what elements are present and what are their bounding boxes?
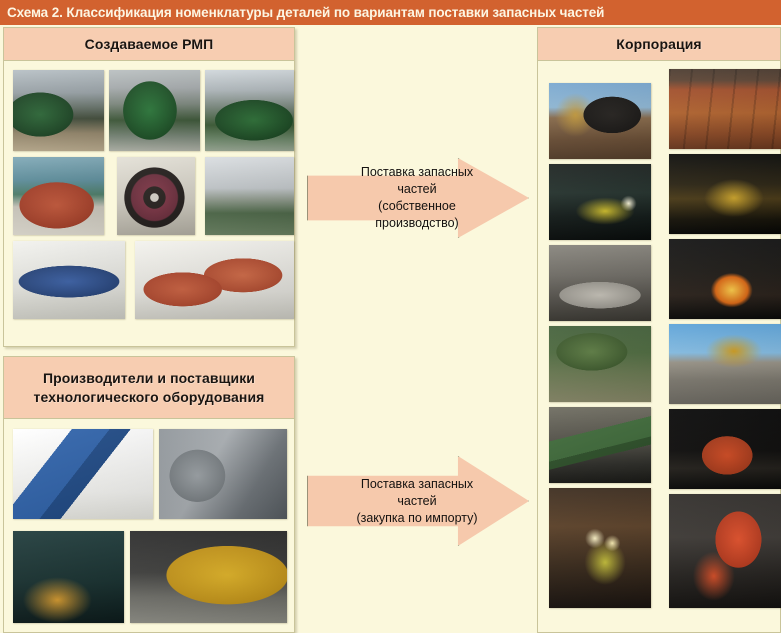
photo-blue-multistage-pump bbox=[13, 241, 125, 319]
arrow-own-production-line1: Поставка запасных частей bbox=[361, 165, 473, 196]
panel-created-rmp: Создаваемое РМП bbox=[3, 27, 295, 347]
panel-created-rmp-title: Создаваемое РМП bbox=[85, 35, 214, 54]
photo-red-conveyor-rollers bbox=[135, 241, 294, 319]
photo-grey-centrifugal-pump bbox=[159, 429, 287, 519]
photo-spare-parts-display bbox=[13, 531, 124, 623]
panel-created-rmp-header: Создаваемое РМП bbox=[4, 28, 294, 61]
panel-corporation: Корпорация bbox=[537, 27, 781, 633]
photo-underground-ore-extraction bbox=[669, 154, 781, 234]
page-title: Схема 2. Классификация номенклатуры дета… bbox=[7, 5, 604, 20]
panel-equipment-makers: Производители и поставщики технологическ… bbox=[3, 356, 295, 633]
photo-green-conveyor-belt bbox=[549, 407, 651, 483]
photo-red-underground-lhd-loader bbox=[669, 409, 781, 489]
photo-grey-mining-truck-body bbox=[205, 157, 294, 235]
panel-corporation-title: Корпорация bbox=[616, 35, 701, 54]
photo-blue-hydraulic-cylinder bbox=[13, 429, 153, 519]
arrow-own-production: Поставка запасных частей (собственное пр… bbox=[307, 158, 529, 238]
photo-red-drilling-rig-underground bbox=[669, 494, 781, 608]
diagram-title-bar: Схема 2. Классификация номенклатуры дета… bbox=[0, 0, 781, 25]
panel-equipment-makers-title-line2: технологического оборудования bbox=[34, 389, 265, 405]
arrow-import-purchase-line1: Поставка запасных частей bbox=[361, 477, 473, 508]
photo-pipeline-flange-assembly bbox=[549, 245, 651, 321]
panel-corporation-header: Корпорация bbox=[538, 28, 780, 61]
panel-equipment-makers-header: Производители и поставщики технологическ… bbox=[4, 357, 294, 419]
photo-yellow-hydraulic-machinery bbox=[130, 531, 287, 623]
panel-equipment-makers-title: Производители и поставщики технологическ… bbox=[34, 369, 265, 407]
photo-excavator-loading-haul-truck bbox=[549, 83, 651, 159]
photo-underground-mine-truck bbox=[549, 488, 651, 608]
arrow-import-purchase: Поставка запасных частей (закупка по имп… bbox=[307, 456, 529, 546]
photo-stacked-copper-cathodes bbox=[669, 69, 781, 149]
photo-green-press-machine bbox=[109, 70, 200, 151]
photo-blue-mining-shovel bbox=[669, 324, 781, 404]
photo-red-excavator-bucket bbox=[13, 157, 104, 235]
arrow-import-purchase-label: Поставка запасных частей (закупка по имп… bbox=[345, 476, 492, 527]
photo-green-rolling-mill-line bbox=[13, 70, 104, 151]
photo-steel-furnace-pouring bbox=[669, 239, 781, 319]
arrow-own-production-line2: (собственное производство) bbox=[375, 199, 458, 230]
arrow-own-production-label: Поставка запасных частей (собственное пр… bbox=[345, 164, 492, 232]
photo-green-ball-mill bbox=[549, 326, 651, 402]
arrow-import-purchase-line2: (закупка по импорту) bbox=[356, 511, 477, 525]
photo-rail-wheel bbox=[117, 157, 195, 235]
photo-green-machining-line bbox=[205, 70, 294, 151]
panel-equipment-makers-title-line1: Производители и поставщики bbox=[43, 370, 255, 386]
photo-underground-drill-jumbo bbox=[549, 164, 651, 240]
